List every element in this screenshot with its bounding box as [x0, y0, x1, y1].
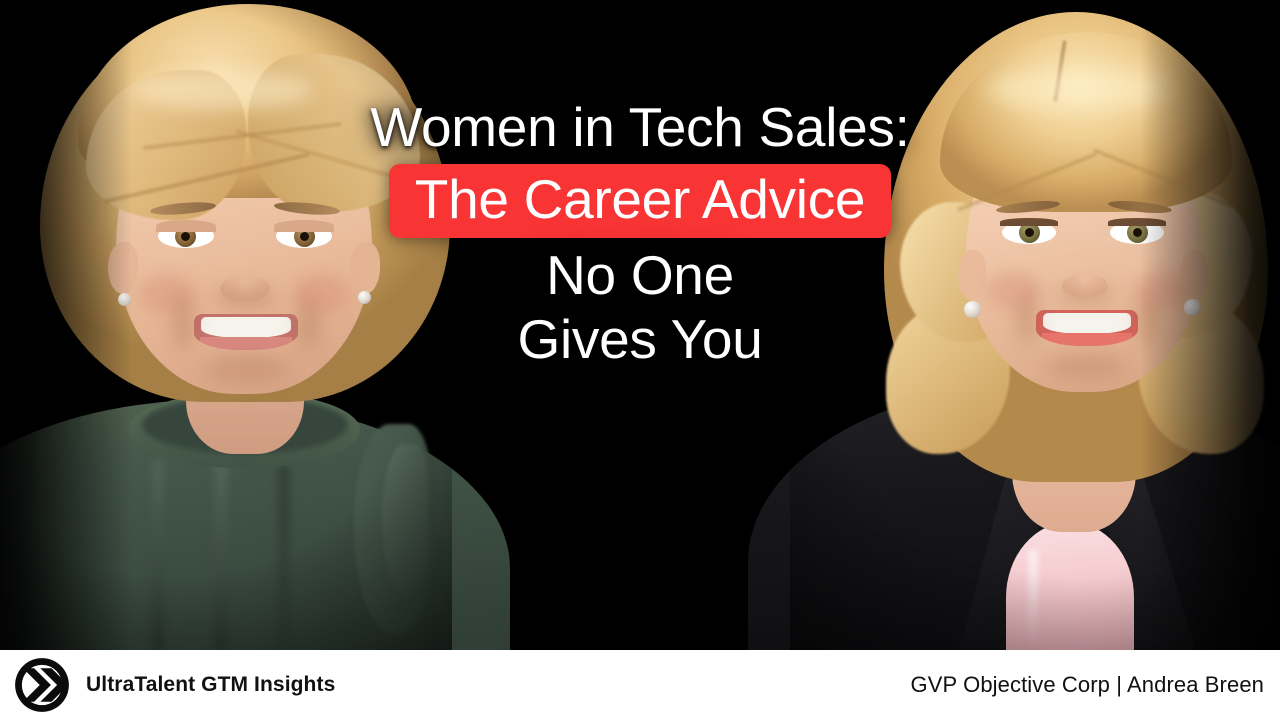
footer-brand-group: UltraTalent GTM Insights — [0, 657, 335, 713]
garment-fold — [278, 465, 290, 650]
garment-fold — [152, 460, 164, 650]
title-highlight-row: The Career Advice — [0, 164, 1280, 238]
title-line-1: Women in Tech Sales: — [0, 96, 1280, 158]
double-chevron-circle-logo-icon — [14, 657, 70, 713]
thumbnail-canvas: Women in Tech Sales: The Career Advice N… — [0, 0, 1280, 720]
inner-top-fold — [1028, 550, 1038, 650]
garment-ruffle — [382, 444, 428, 594]
garment-fold — [214, 450, 228, 650]
artwork-stage: Women in Tech Sales: The Career Advice N… — [0, 0, 1280, 650]
footer-bar: UltraTalent GTM Insights GVP Objective C… — [0, 650, 1280, 720]
title-line-4: Gives You — [0, 308, 1280, 370]
title-line-3: No One — [0, 244, 1280, 306]
footer-brand-label: UltraTalent GTM Insights — [86, 673, 335, 697]
title-block: Women in Tech Sales: The Career Advice N… — [0, 96, 1280, 370]
title-highlight-badge: The Career Advice — [389, 164, 891, 238]
footer-guest-label: GVP Objective Corp | Andrea Breen — [911, 672, 1280, 698]
